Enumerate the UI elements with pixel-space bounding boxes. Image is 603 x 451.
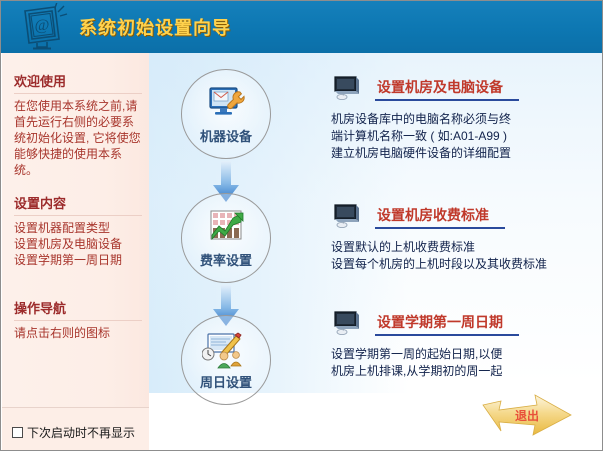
hide-next-time-label: 下次启动时不再显示 bbox=[27, 424, 135, 441]
info-item-2-desc-1: 设置默认的上机收费费标准 bbox=[331, 239, 599, 256]
step-button-week-settings[interactable]: 周日设置 bbox=[181, 315, 271, 405]
link-room-devices[interactable]: 设置机房及电脑设备 bbox=[377, 77, 503, 97]
info-item-1-head: 设置机房及电脑设备 bbox=[331, 73, 599, 107]
sidebar-navigation-hint: 请点击右则的图标 bbox=[14, 325, 142, 341]
sidebar-heading-welcome: 欢迎使用 bbox=[14, 71, 142, 94]
info-item-3-desc-1: 设置学期第一周的起始日期,以便 bbox=[331, 346, 599, 363]
main-stage: 机器设备 bbox=[149, 53, 603, 451]
link-underline-1 bbox=[375, 99, 519, 101]
info-item-1-desc-3: 建立机房电脑硬件设备的详细配置 bbox=[331, 145, 599, 162]
page-title: 系统初始设置向导 bbox=[79, 14, 231, 40]
step-button-rate-settings[interactable]: 费率设置 bbox=[181, 193, 271, 283]
sidebar-heading-content: 设置内容 bbox=[14, 193, 142, 216]
link-semester-first-week[interactable]: 设置学期第一周日期 bbox=[377, 312, 503, 332]
sidebar-footer: 下次启动时不再显示 bbox=[2, 407, 149, 451]
info-item-1-desc-2: 端计算机名称一致 ( 如:A01-A99 ) bbox=[331, 128, 599, 145]
sidebar-block-navigation: 操作导航 请点击右则的图标 bbox=[14, 298, 142, 341]
setup-wizard-window: @ 系统初始设置向导 欢迎使用 在您使用本系统之前,请首先运行右侧的必要系统初始… bbox=[0, 0, 603, 451]
info-item-1: 设置机房及电脑设备 机房设备库中的电脑名称必须与终 端计算机名称一致 ( 如:A… bbox=[331, 73, 599, 162]
window-header: @ 系统初始设置向导 bbox=[1, 1, 603, 53]
exit-button[interactable]: 退出 bbox=[479, 393, 575, 439]
monitor-icon bbox=[331, 203, 361, 231]
sidebar-content-item-1: 设置机器配置类型 bbox=[14, 220, 142, 236]
info-item-2-desc-2: 设置每个机房的上机时段以及其收费标准 bbox=[331, 256, 599, 273]
sidebar-block-welcome: 欢迎使用 在您使用本系统之前,请首先运行右侧的必要系统初始化设置, 它将使您能够… bbox=[14, 71, 142, 178]
chart-growth-icon bbox=[202, 208, 250, 250]
info-item-3-head: 设置学期第一周日期 bbox=[331, 308, 599, 342]
sidebar: 欢迎使用 在您使用本系统之前,请首先运行右侧的必要系统初始化设置, 它将使您能够… bbox=[2, 53, 149, 451]
link-underline-2 bbox=[375, 227, 505, 229]
monitor-icon bbox=[331, 310, 361, 338]
monitor-wrench-icon bbox=[202, 84, 250, 126]
monitor-at-icon: @ bbox=[15, 3, 73, 51]
svg-text:@: @ bbox=[35, 17, 50, 34]
info-item-2: 设置机房收费标准 设置默认的上机收费费标准 设置每个机房的上机时段以及其收费标准 bbox=[331, 201, 599, 273]
sidebar-welcome-text: 在您使用本系统之前,请首先运行右侧的必要系统初始化设置, 它将使您能够快捷的使用… bbox=[14, 98, 142, 178]
info-item-1-desc-1: 机房设备库中的电脑名称必须与终 bbox=[331, 111, 599, 128]
monitor-icon bbox=[331, 75, 361, 103]
info-item-3-desc-2: 机房上机排课,从学期初的周一起 bbox=[331, 363, 599, 380]
step-label-3: 周日设置 bbox=[182, 372, 270, 391]
hide-next-time-checkbox[interactable] bbox=[12, 427, 23, 438]
link-underline-3 bbox=[375, 334, 519, 336]
sidebar-content-item-2: 设置机房及电脑设备 bbox=[14, 236, 142, 252]
sidebar-heading-navigation: 操作导航 bbox=[14, 298, 142, 321]
step-label-1: 机器设备 bbox=[182, 126, 270, 145]
info-item-3: 设置学期第一周日期 设置学期第一周的起始日期,以便 机房上机排课,从学期初的周一… bbox=[331, 308, 599, 380]
link-room-fee-standard[interactable]: 设置机房收费标准 bbox=[377, 205, 489, 225]
exit-label: 退出 bbox=[515, 407, 539, 424]
step-label-2: 费率设置 bbox=[182, 250, 270, 269]
sidebar-content-item-3: 设置学期第一周日期 bbox=[14, 252, 142, 268]
step-button-machine-devices[interactable]: 机器设备 bbox=[181, 69, 271, 159]
whiteboard-people-icon bbox=[202, 330, 250, 372]
hide-next-time-checkbox-row[interactable]: 下次启动时不再显示 bbox=[12, 424, 135, 441]
info-item-2-head: 设置机房收费标准 bbox=[331, 201, 599, 235]
sidebar-block-content: 设置内容 设置机器配置类型 设置机房及电脑设备 设置学期第一周日期 bbox=[14, 193, 142, 268]
